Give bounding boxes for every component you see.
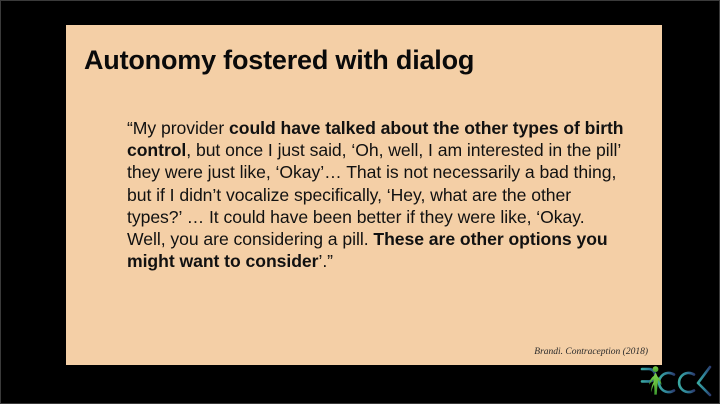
- presentation-slide: Autonomy fostered with dialog “My provid…: [66, 25, 662, 365]
- video-player-frame: Autonomy fostered with dialog “My provid…: [0, 0, 720, 404]
- picck-logo: [636, 361, 716, 401]
- citation-text: Brandi. Contraception (2018): [534, 347, 648, 357]
- quote-text: “My provider could have talked about the…: [127, 117, 627, 272]
- quote-run-4: ’.”: [318, 251, 333, 271]
- slide-title: Autonomy fostered with dialog: [84, 43, 644, 77]
- quote-run-0: “My provider: [127, 118, 229, 138]
- picck-logo-icon: [636, 361, 716, 401]
